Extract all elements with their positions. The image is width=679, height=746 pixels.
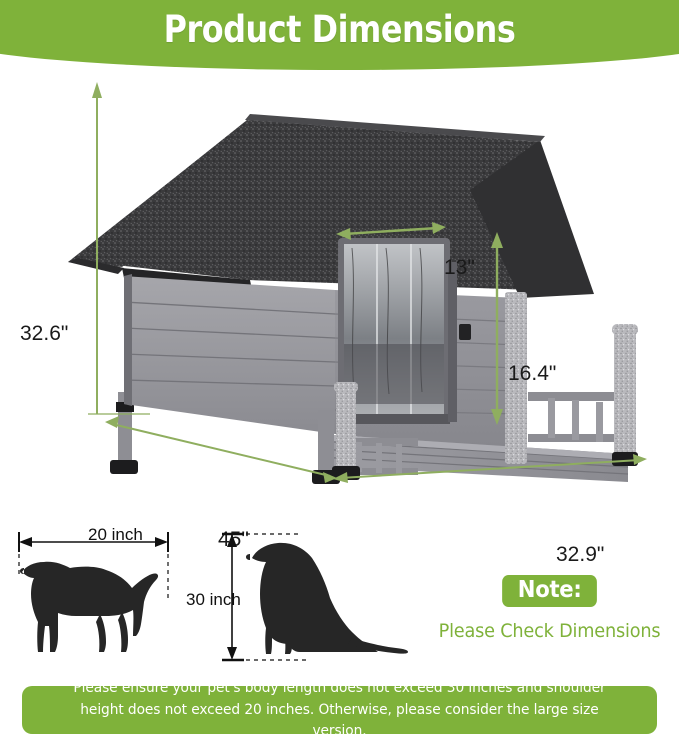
header-banner: Product Dimensions bbox=[0, 0, 679, 70]
dimension-label-door-width: 13" bbox=[444, 256, 475, 280]
standing-dog-silhouette bbox=[20, 562, 158, 652]
sitting-dog-silhouette bbox=[246, 543, 408, 654]
infographic-root: Product Dimensions bbox=[0, 0, 679, 746]
footer-banner: Please ensure your pet's body length doe… bbox=[22, 686, 657, 734]
dimension-label-overall-height: 32.6" bbox=[20, 322, 68, 346]
product-illustration: 32.6" 13" 16.4" 45" 32.9" bbox=[0, 62, 679, 512]
side-wall-corner bbox=[124, 274, 132, 406]
note-block: Note: Please Check Dimensions bbox=[420, 575, 679, 642]
footer-message: Please ensure your pet's body length doe… bbox=[38, 678, 641, 741]
note-badge: Note: bbox=[502, 575, 597, 607]
note-subtitle: Please Check Dimensions bbox=[429, 620, 670, 642]
door-interior-shadow bbox=[344, 344, 444, 404]
pet-width-label: 20 inch bbox=[88, 525, 143, 545]
door-hinge-post bbox=[448, 262, 457, 422]
pet-height-label: 30 inch bbox=[186, 590, 241, 610]
dog-house-drawing bbox=[0, 62, 679, 512]
dimension-label-overall-depth: 32.9" bbox=[556, 543, 604, 567]
door-latch bbox=[459, 324, 471, 340]
dimension-label-door-height: 16.4" bbox=[508, 362, 556, 386]
page-title: Product Dimensions bbox=[48, 8, 632, 51]
porch-railing-right bbox=[528, 392, 624, 442]
